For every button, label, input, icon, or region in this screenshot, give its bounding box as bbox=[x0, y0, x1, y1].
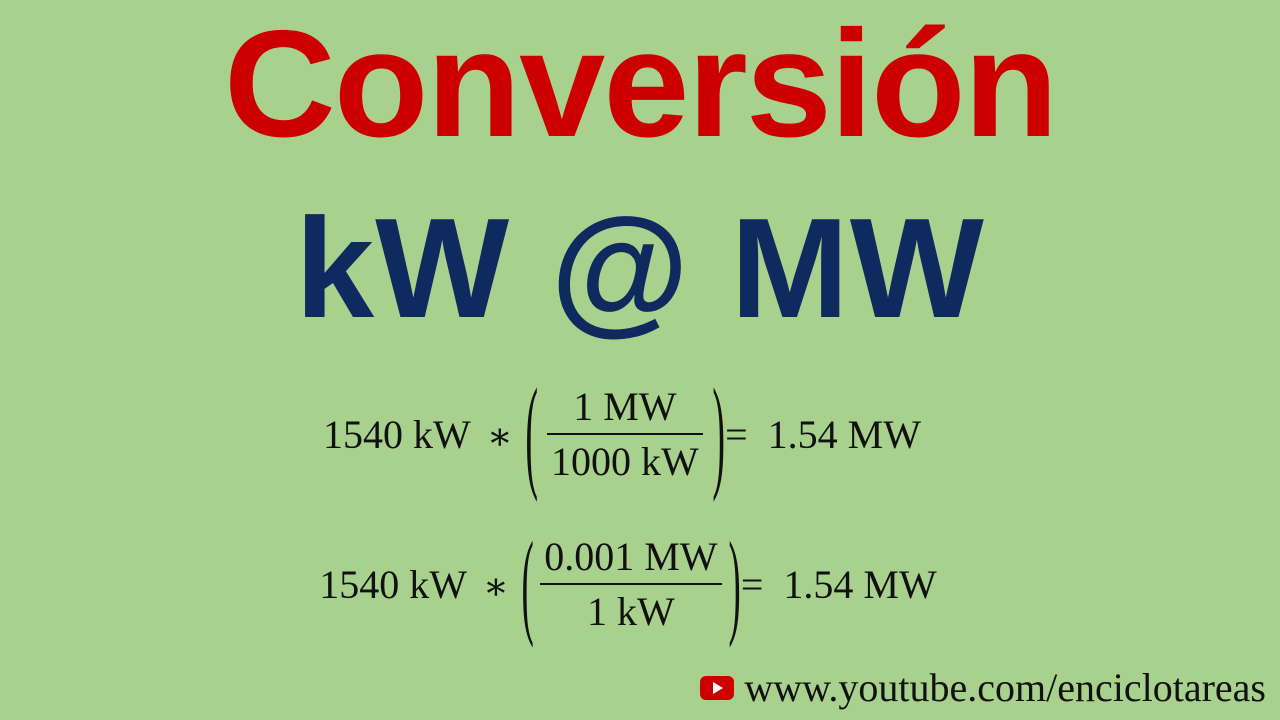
equation-1-equals: = bbox=[725, 411, 748, 458]
equation-2-content: 1540 kW ∗ ( 0.001 MW 1 kW ) = 1.54 MW bbox=[319, 535, 936, 634]
equation-2-paren-open: ( bbox=[521, 525, 533, 643]
equation-2-result: 1.54 MW bbox=[783, 561, 936, 608]
equation-1-lhs: 1540 kW bbox=[323, 411, 471, 458]
page-subtitle: kW @ MW bbox=[0, 198, 1280, 340]
equation-2-lhs: 1540 kW bbox=[319, 561, 467, 608]
slide-canvas: Conversión kW @ MW 1540 kW ∗ ( 1 MW 1000… bbox=[0, 0, 1280, 720]
equation-1-numerator: 1 MW bbox=[569, 385, 680, 428]
equation-2-operator: ∗ bbox=[483, 564, 509, 609]
equation-2-equals: = bbox=[741, 561, 764, 608]
equation-1-content: 1540 kW ∗ ( 1 MW 1000 kW ) = 1.54 MW bbox=[323, 385, 921, 484]
watermark-url: www.youtube.com/enciclotareas bbox=[744, 668, 1266, 708]
equation-1-result: 1.54 MW bbox=[768, 411, 921, 458]
equation-1-operator: ∗ bbox=[487, 414, 513, 459]
page-title: Conversión bbox=[0, 8, 1280, 160]
youtube-play-icon bbox=[700, 676, 734, 700]
watermark: www.youtube.com/enciclotareas bbox=[700, 668, 1266, 708]
title-text: Conversión bbox=[224, 8, 1056, 160]
equation-2-paren-close: ) bbox=[728, 525, 740, 643]
equation-2-numerator: 0.001 MW bbox=[540, 535, 721, 578]
subtitle-text: kW @ MW bbox=[295, 198, 985, 340]
equation-1-fraction-bar bbox=[547, 433, 703, 436]
equation-row-2: 1540 kW ∗ ( 0.001 MW 1 kW ) = 1.54 MW bbox=[0, 532, 1280, 636]
equation-1-paren-open: ( bbox=[525, 371, 538, 497]
equation-2-fraction: 0.001 MW 1 kW bbox=[540, 535, 721, 634]
equation-1-fraction: 1 MW 1000 kW bbox=[547, 385, 703, 484]
equation-1-paren-close: ) bbox=[712, 371, 725, 497]
equation-row-1: 1540 kW ∗ ( 1 MW 1000 kW ) = 1.54 MW bbox=[0, 382, 1280, 486]
equation-2-fraction-bar bbox=[540, 583, 721, 586]
equation-2-denominator: 1 kW bbox=[583, 590, 679, 633]
equation-1-denominator: 1000 kW bbox=[547, 440, 703, 483]
